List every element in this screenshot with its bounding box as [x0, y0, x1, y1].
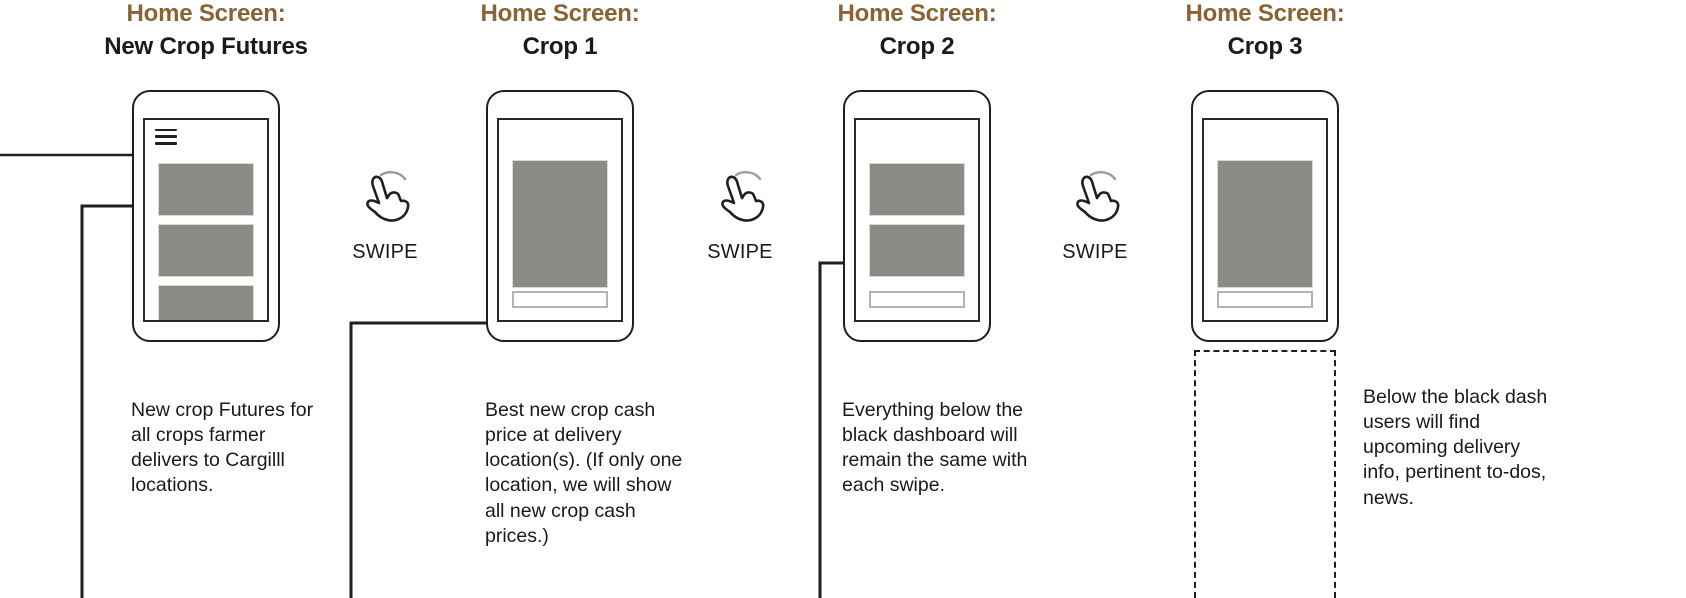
step-caption: New crop Futures for all crops farmer de… [131, 398, 331, 499]
phone-screen [497, 118, 623, 322]
content-card[interactable] [158, 285, 254, 322]
phone-screen [854, 118, 980, 322]
hamburger-menu-icon[interactable] [155, 129, 177, 145]
step-title: Home Screen: Crop 2 [787, 0, 1047, 62]
flow-diagram-canvas: Home Screen: New Crop Futures New crop F… [0, 0, 1686, 598]
flow-step-3: Home Screen: Crop 2 Everything below the… [787, 0, 1047, 342]
phone-mockup-1 [132, 90, 280, 342]
phone-screen [1202, 118, 1328, 322]
step-title-top: Home Screen: [430, 0, 690, 28]
step-title-top: Home Screen: [76, 0, 336, 28]
content-card[interactable] [158, 224, 254, 277]
step-title: Home Screen: Crop 1 [430, 0, 690, 62]
swipe-label: SWIPE [1040, 241, 1150, 264]
swipe-label: SWIPE [330, 241, 440, 264]
swipe-hand-icon [1063, 168, 1127, 230]
phone-screen [143, 118, 269, 322]
content-card[interactable] [512, 160, 608, 288]
content-card[interactable] [869, 163, 965, 216]
search-bar-field[interactable] [869, 291, 965, 308]
content-card[interactable] [869, 224, 965, 277]
swipe-label: SWIPE [685, 241, 795, 264]
step-caption: Best new crop cash price at delivery loc… [485, 398, 685, 549]
dashed-scroll-extension [1194, 350, 1336, 598]
step-title-top: Home Screen: [1135, 0, 1395, 28]
swipe-hand-icon [708, 168, 772, 230]
content-card[interactable] [158, 163, 254, 216]
content-card[interactable] [1217, 160, 1313, 288]
flow-step-1: Home Screen: New Crop Futures New crop F… [76, 0, 336, 342]
step-title: Home Screen: New Crop Futures [76, 0, 336, 62]
phone-mockup-3 [843, 90, 991, 342]
step-caption: Below the black dash users will find upc… [1363, 385, 1548, 511]
flow-step-4: Home Screen: Crop 3 Below the black dash… [1135, 0, 1395, 342]
search-bar-field[interactable] [512, 291, 608, 308]
transition-swipe-2: SWIPE [685, 168, 795, 264]
transition-swipe-1: SWIPE [330, 168, 440, 264]
step-title-top: Home Screen: [787, 0, 1047, 28]
phone-mockup-2 [486, 90, 634, 342]
step-title-bottom: New Crop Futures [76, 33, 336, 61]
step-title-bottom: Crop 2 [787, 33, 1047, 61]
phone-mockup-4 [1191, 90, 1339, 342]
step-title-bottom: Crop 1 [430, 33, 690, 61]
step-caption: Everything below the black dashboard wil… [842, 398, 1042, 499]
transition-swipe-3: SWIPE [1040, 168, 1150, 264]
step-title: Home Screen: Crop 3 [1135, 0, 1395, 62]
search-bar-field[interactable] [1217, 291, 1313, 308]
step-title-bottom: Crop 3 [1135, 33, 1395, 61]
swipe-hand-icon [353, 168, 417, 230]
flow-step-2: Home Screen: Crop 1 Best new crop cash p… [430, 0, 690, 342]
